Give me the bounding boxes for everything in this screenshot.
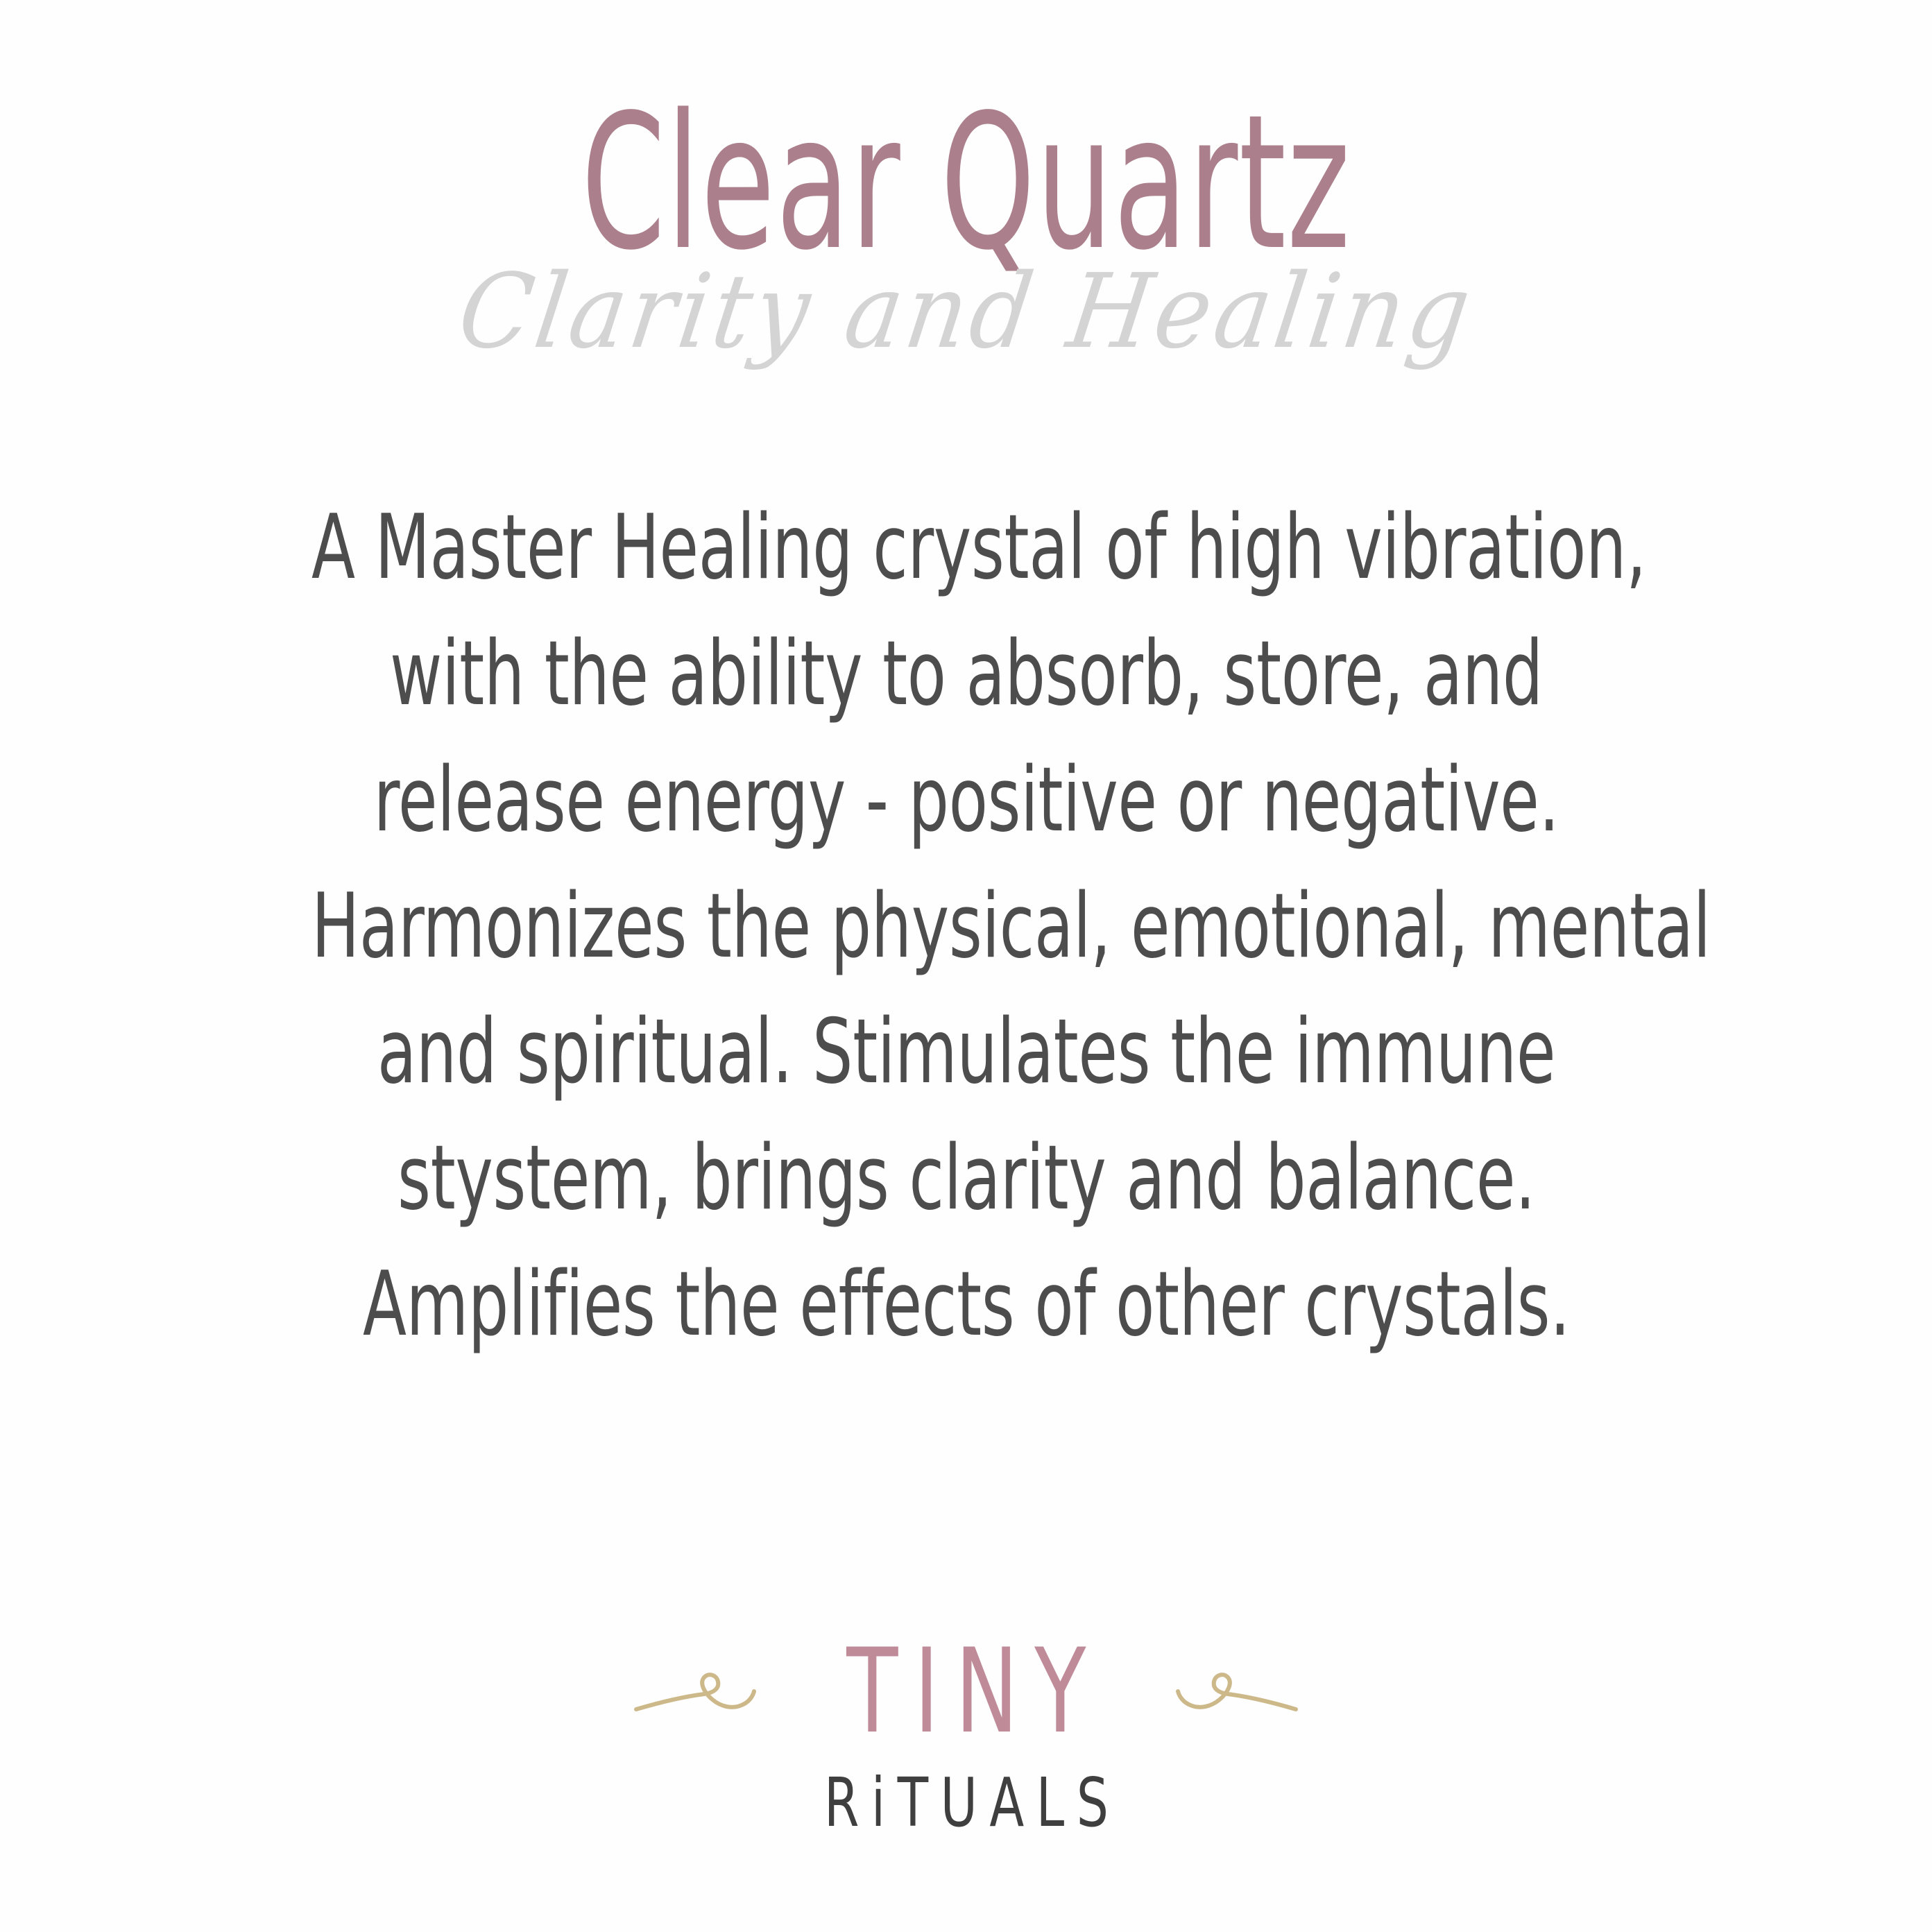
- description-line: A Master Healing crystal of high vibrati…: [311, 485, 1621, 611]
- swash-flourish-right-icon: [1140, 1651, 1300, 1734]
- description-line: stystem, brings clarity and balance.: [311, 1115, 1621, 1242]
- swash-flourish-left-icon: [632, 1651, 792, 1734]
- crystal-info-card: Clear Quartz Clarity and Healing A Maste…: [0, 0, 1932, 1932]
- brand-logo-top-row: TINY: [632, 1638, 1301, 1747]
- description-line: Amplifies the effects of other crystals.: [311, 1242, 1621, 1368]
- brand-name-secondary: RiTUALS: [812, 1768, 1120, 1838]
- brand-name-primary: TINY: [830, 1632, 1102, 1754]
- description-block: A Master Healing crystal of high vibrati…: [148, 485, 1785, 1367]
- description-line: release energy - positive or negative.: [311, 737, 1621, 864]
- page-subtitle: Clarity and Healing: [453, 260, 1480, 363]
- page-title: Clear Quartz: [581, 89, 1351, 278]
- description-line: and spiritual. Stimulates the immune: [311, 989, 1621, 1115]
- description-line: Harmonizes the physical, emotional, ment…: [311, 864, 1621, 990]
- brand-logo: TINY RiTUALS: [0, 1638, 1932, 1835]
- description-line: with the ability to absorb, store, and: [311, 611, 1621, 737]
